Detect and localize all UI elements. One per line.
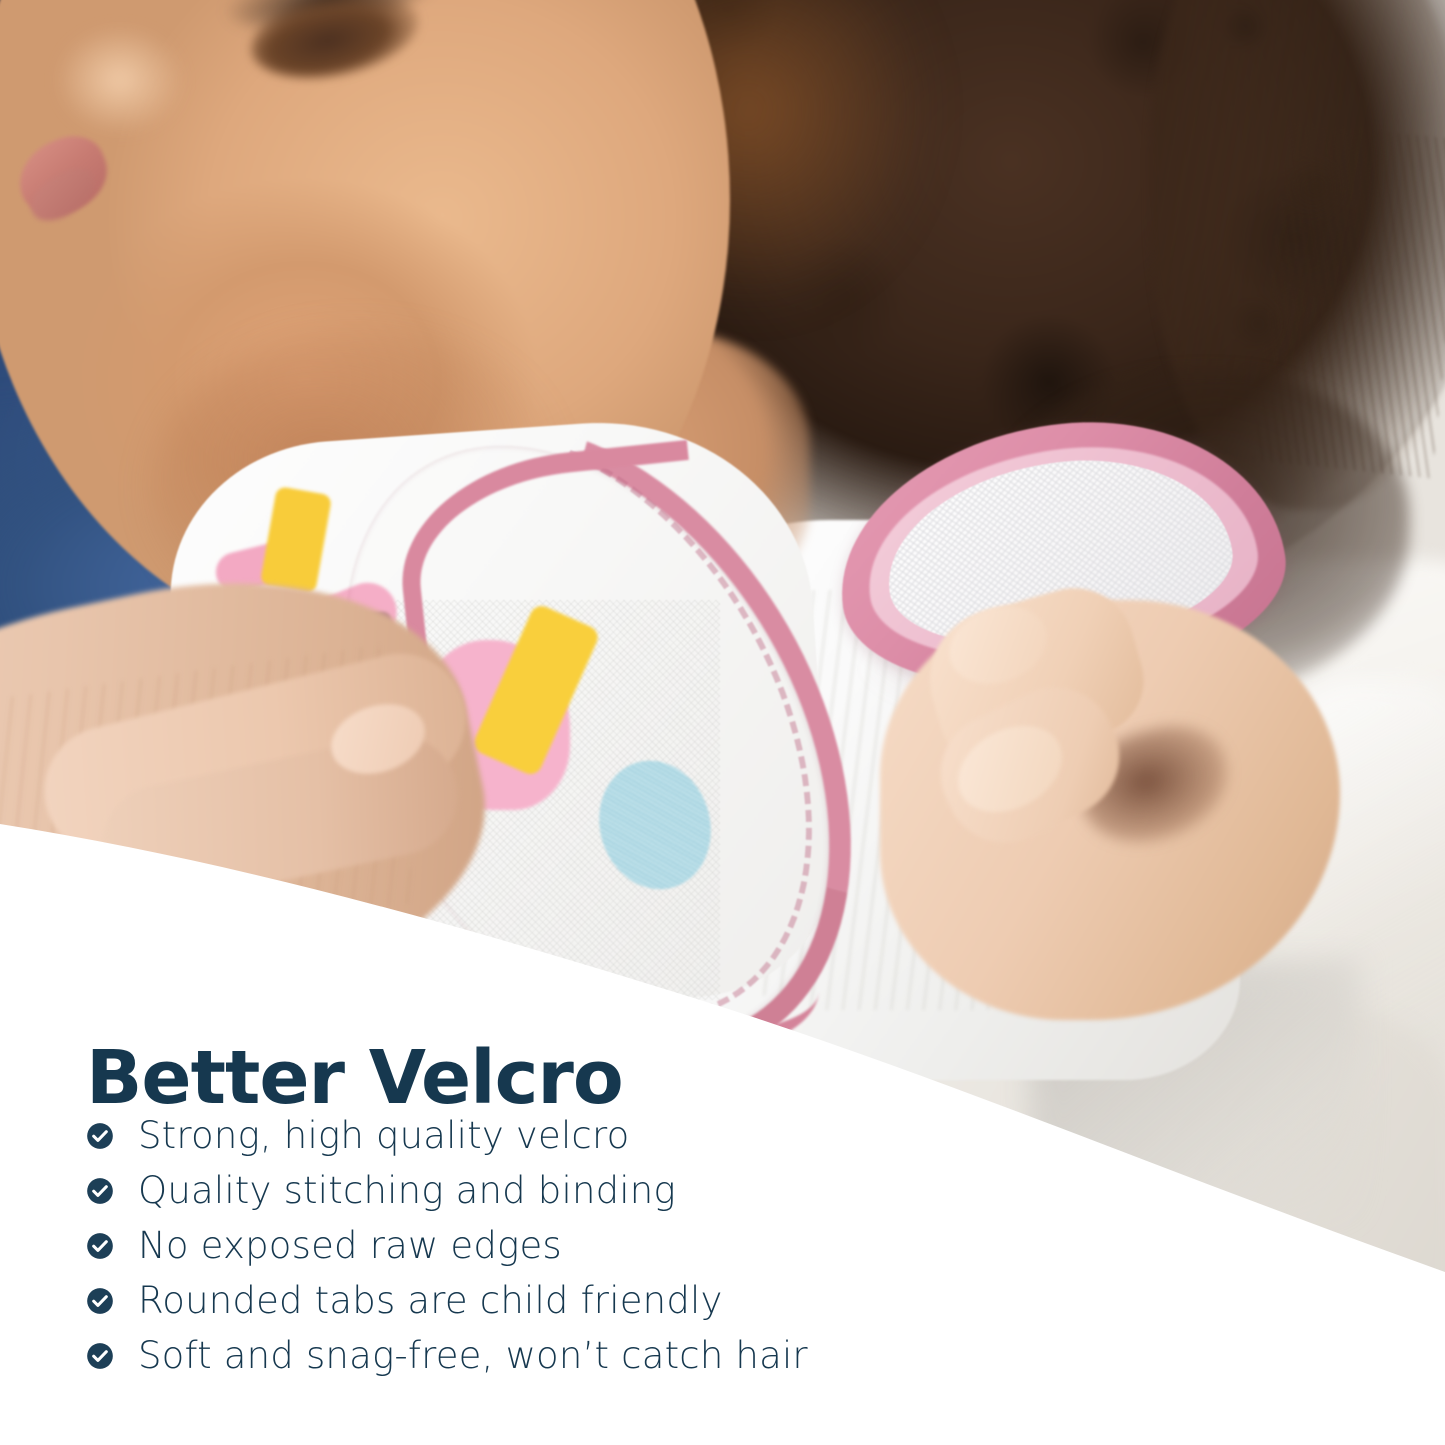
check-circle-icon	[86, 1342, 114, 1370]
list-item: Strong, high quality velcro	[86, 1108, 1086, 1163]
check-circle-icon	[86, 1177, 114, 1205]
list-item-label: Soft and snag-free, won’t catch hair	[138, 1337, 808, 1374]
list-item: No exposed raw edges	[86, 1218, 1086, 1273]
list-item: Rounded tabs are child friendly	[86, 1273, 1086, 1328]
feature-text-block: Better Velcro Strong, high quality velcr…	[0, 0, 1445, 1445]
list-item: Soft and snag-free, won’t catch hair	[86, 1328, 1086, 1383]
list-item-label: Strong, high quality velcro	[138, 1117, 629, 1154]
list-item-label: Rounded tabs are child friendly	[138, 1282, 723, 1319]
list-item-label: No exposed raw edges	[138, 1227, 562, 1264]
check-circle-icon	[86, 1232, 114, 1260]
product-feature-graphic: Better Velcro Strong, high quality velcr…	[0, 0, 1445, 1445]
list-item: Quality stitching and binding	[86, 1163, 1086, 1218]
page-title: Better Velcro	[86, 1041, 623, 1115]
check-circle-icon	[86, 1122, 114, 1150]
check-circle-icon	[86, 1287, 114, 1315]
list-item-label: Quality stitching and binding	[138, 1172, 676, 1209]
feature-list: Strong, high quality velcro Quality stit…	[86, 1108, 1086, 1383]
